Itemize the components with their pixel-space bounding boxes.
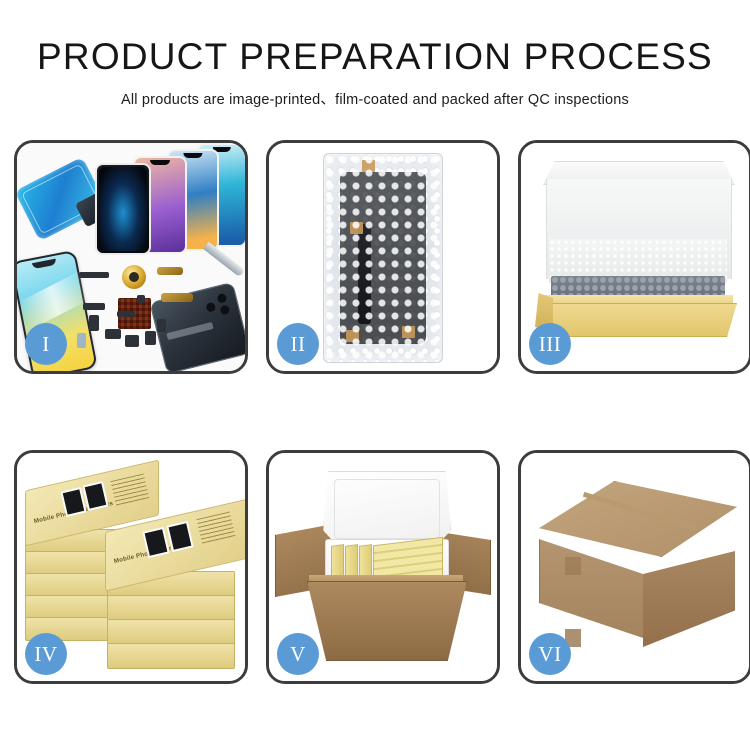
carton-body: [307, 581, 467, 661]
process-step-grid: I II: [14, 140, 736, 684]
camera-lens-icon: [217, 293, 228, 304]
product-preparation-infographic: PRODUCT PREPARATION PROCESS All products…: [0, 0, 750, 750]
step-badge-1: I: [25, 323, 67, 365]
panel-step-4: Mobile Phone Spare Parts Mobile Phone Sp…: [14, 450, 248, 684]
flex-cable-1: [157, 267, 183, 275]
foam-lid: [323, 471, 451, 547]
stacked-box-r4: [107, 643, 235, 669]
panel-step-6: VI: [518, 450, 750, 684]
bubble-texture-overlay: [324, 154, 442, 362]
bubble-wrap-bag: [323, 153, 443, 363]
page-title: PRODUCT PREPARATION PROCESS: [0, 38, 750, 77]
component-chip-1: [89, 315, 99, 331]
component-strip-1: [79, 272, 109, 278]
carton-tape-patch-1: [565, 557, 581, 575]
box-front-wall: [539, 303, 737, 337]
step-badge-6: VI: [529, 633, 571, 675]
component-strip-3: [117, 311, 135, 317]
camera-module-icon: [125, 335, 139, 347]
component-chip-5: [77, 333, 86, 348]
panel-step-5: V: [266, 450, 500, 684]
panel-step-1: I: [14, 140, 248, 374]
notch-icon: [150, 160, 170, 165]
component-chip-6: [137, 295, 145, 303]
panel-step-3: III: [518, 140, 750, 374]
step-badge-2: II: [277, 323, 319, 365]
step-badge-5: V: [277, 633, 319, 675]
notch-icon: [183, 153, 202, 158]
header: PRODUCT PREPARATION PROCESS All products…: [0, 0, 750, 109]
component-strip-2: [83, 303, 105, 310]
step-badge-3: III: [529, 323, 571, 365]
screen-glare: [17, 269, 97, 332]
flex-cable-2: [161, 293, 193, 302]
page-subtitle: All products are image-printed、film-coat…: [0, 88, 750, 109]
screen-artwork: [99, 167, 147, 251]
gold-coil-component: [122, 265, 146, 289]
stacked-box-r3: [107, 619, 235, 645]
phone-display-1: [95, 163, 151, 255]
component-chip-2: [105, 329, 121, 339]
component-chip-3: [145, 331, 156, 345]
step-badge-4: IV: [25, 633, 67, 675]
component-chip-4: [157, 319, 166, 332]
housing-band: [167, 322, 214, 340]
stacked-box-r2: [107, 595, 235, 621]
panel-step-2: II: [266, 140, 500, 374]
